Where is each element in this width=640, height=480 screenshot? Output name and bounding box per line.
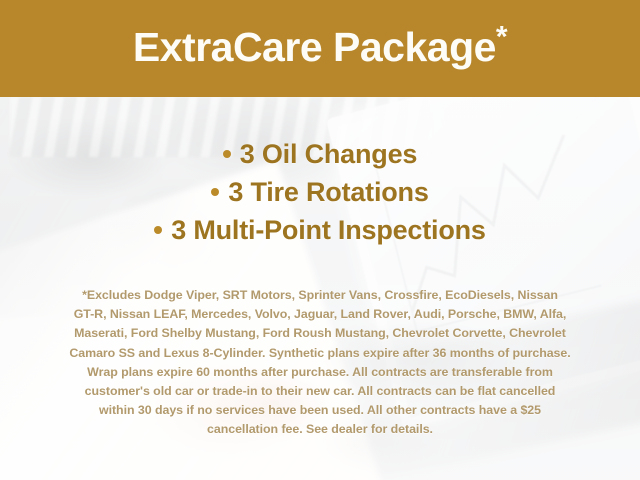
benefits-list: 3 Oil Changes 3 Tire Rotations 3 Multi-P… xyxy=(0,135,640,249)
disclaimer-line: cancellation fee. See dealer for details… xyxy=(24,420,616,439)
disclaimer-line: Wrap plans expire 60 months after purcha… xyxy=(24,363,616,382)
benefit-label: 3 Tire Rotations xyxy=(228,177,428,207)
bullet-dot-icon xyxy=(154,226,162,234)
bullet-dot-icon xyxy=(211,188,219,196)
benefit-label: 3 Multi-Point Inspections xyxy=(171,215,486,245)
page-title: ExtraCare Package* xyxy=(133,27,507,68)
disclaimer-line: within 30 days if no services have been … xyxy=(24,401,616,420)
list-item: 3 Multi-Point Inspections xyxy=(0,211,640,249)
benefit-label: 3 Oil Changes xyxy=(240,139,417,169)
bullet-dot-icon xyxy=(223,150,231,158)
list-item: 3 Tire Rotations xyxy=(0,173,640,211)
page-title-text: ExtraCare Package xyxy=(133,24,496,70)
disclaimer-line: *Excludes Dodge Viper, SRT Motors, Sprin… xyxy=(24,286,616,305)
disclaimer-block: *Excludes Dodge Viper, SRT Motors, Sprin… xyxy=(0,286,640,440)
disclaimer-line: GT-R, Nissan LEAF, Mercedes, Volvo, Jagu… xyxy=(24,305,616,324)
disclaimer-line: customer's old car or trade-in to their … xyxy=(24,382,616,401)
list-item: 3 Oil Changes xyxy=(0,135,640,173)
disclaimer-line: Camaro SS and Lexus 8-Cylinder. Syntheti… xyxy=(24,344,616,363)
extracare-package-promo-card: ExtraCare Package* 3 Oil Changes 3 Tire … xyxy=(0,0,640,480)
disclaimer-line: Maserati, Ford Shelby Mustang, Ford Rous… xyxy=(24,324,616,343)
header-bar: ExtraCare Package* xyxy=(0,0,640,97)
page-title-asterisk: * xyxy=(496,20,507,53)
